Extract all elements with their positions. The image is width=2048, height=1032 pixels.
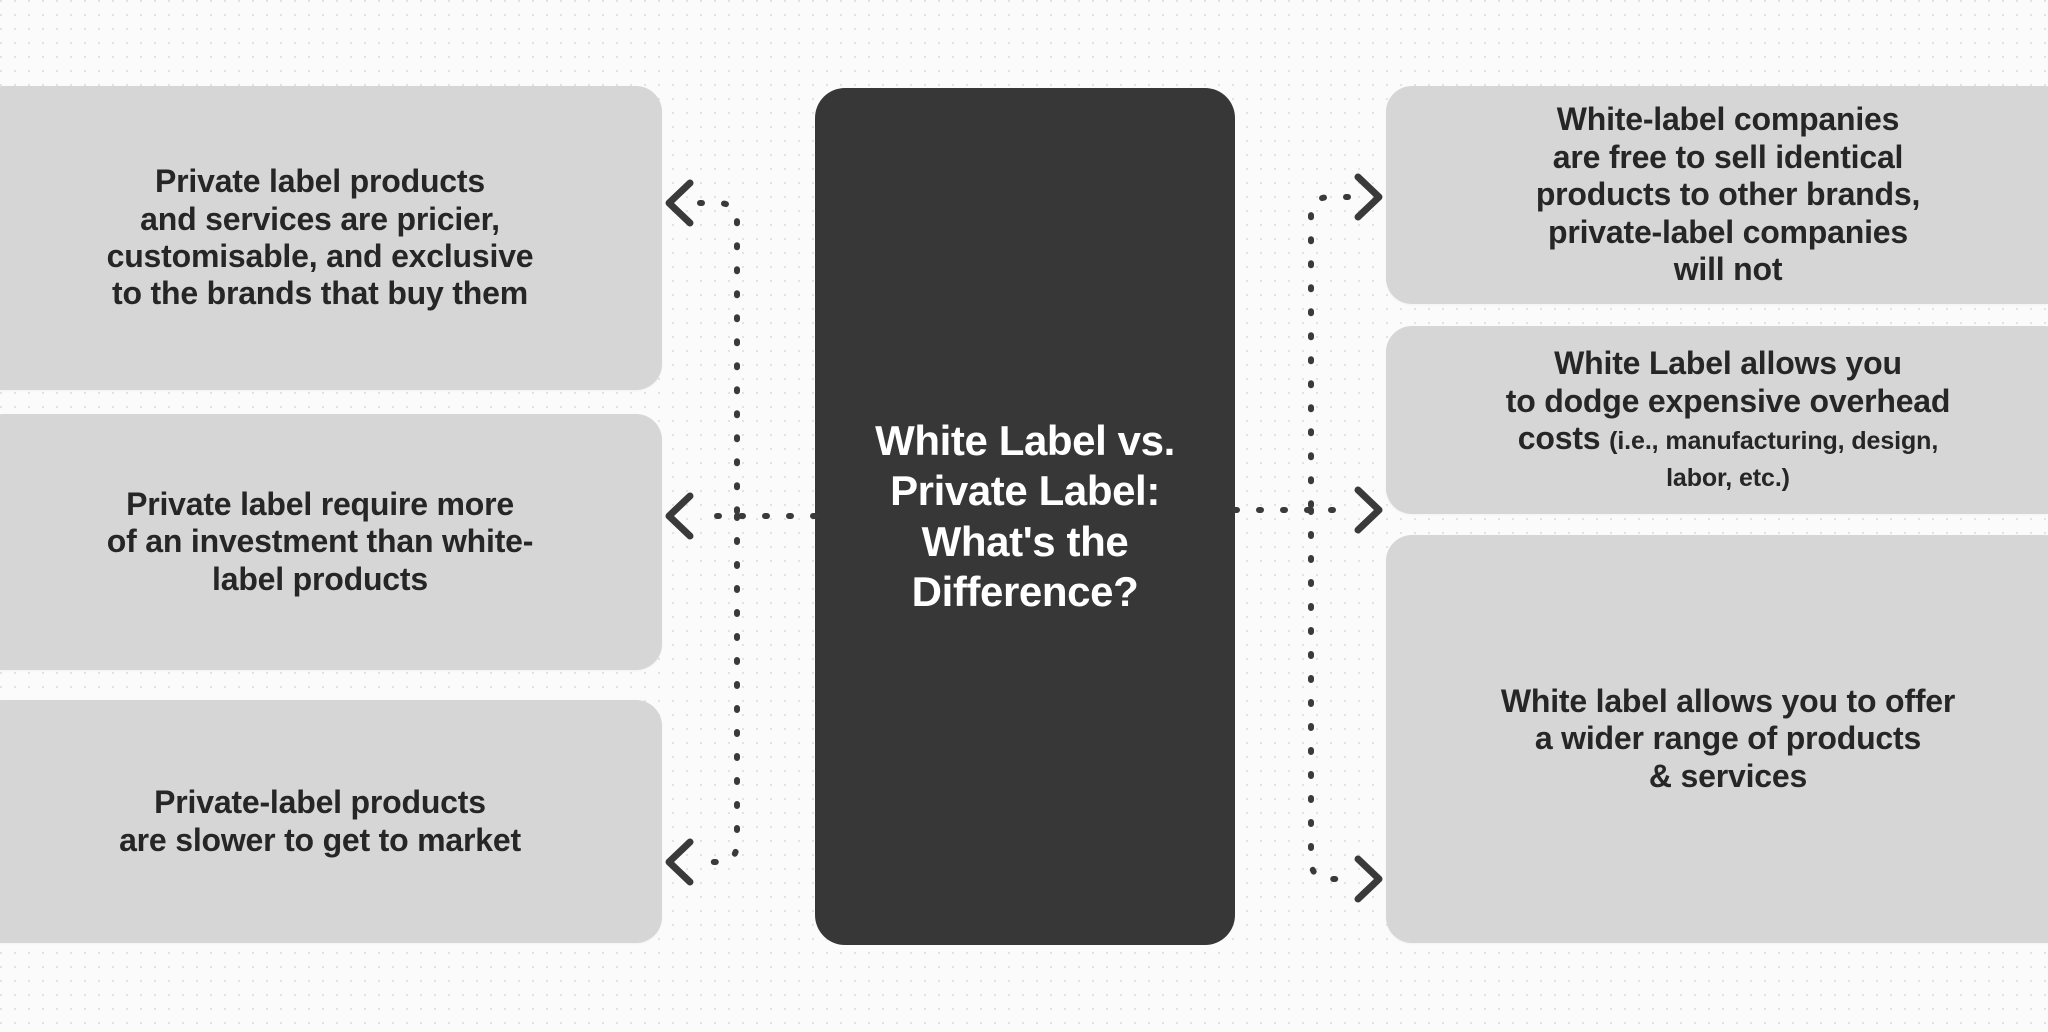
left-box-private-label-pricier[interactable]: Private label products and services are …: [0, 86, 662, 390]
center-title-label: White Label vs. Private Label: What's th…: [861, 416, 1189, 618]
diagram-canvas: Private label products and services are …: [0, 0, 2048, 1032]
right-box-2-subtext: (i.e., manufacturing, design, labor, etc…: [1609, 427, 1938, 492]
right-box-2-label: White Label allows you to dodge expensiv…: [1488, 345, 1969, 495]
right-box-1-label: White-label companies are free to sell i…: [1518, 101, 1938, 288]
right-box-white-label-wider-range[interactable]: White label allows you to offer a wider …: [1386, 535, 2048, 943]
center-title-box[interactable]: White Label vs. Private Label: What's th…: [815, 88, 1235, 945]
left-box-private-label-slower[interactable]: Private-label products are slower to get…: [0, 700, 662, 943]
right-box-3-label: White label allows you to offer a wider …: [1483, 683, 1973, 795]
left-box-3-label: Private-label products are slower to get…: [101, 784, 539, 859]
left-box-2-label: Private label require more of an investm…: [89, 486, 551, 598]
left-box-1-label: Private label products and services are …: [89, 163, 552, 313]
left-box-private-label-investment[interactable]: Private label require more of an investm…: [0, 414, 662, 670]
right-box-white-label-identical-products[interactable]: White-label companies are free to sell i…: [1386, 86, 2048, 304]
right-box-white-label-overhead[interactable]: White Label allows you to dodge expensiv…: [1386, 326, 2048, 514]
